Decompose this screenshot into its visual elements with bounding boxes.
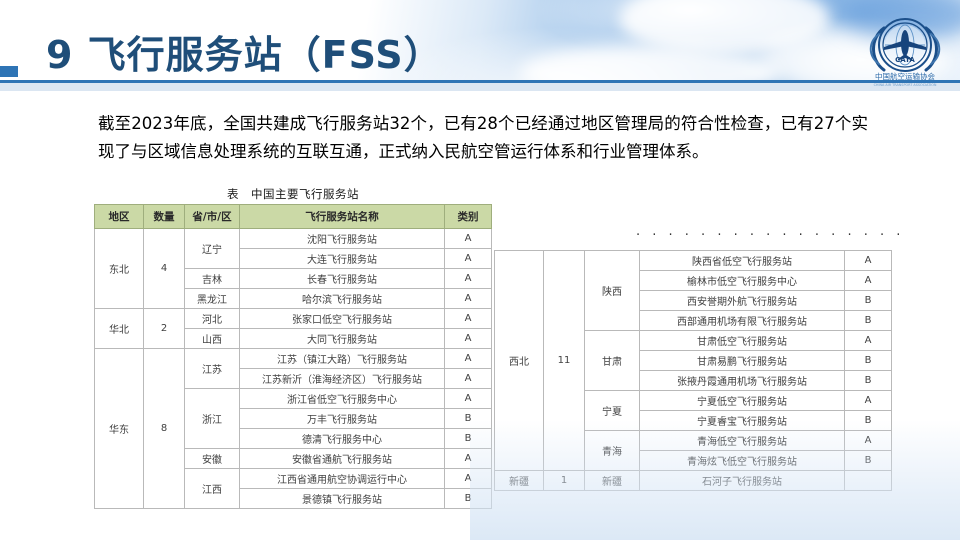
col-header-count: 数量	[144, 205, 185, 229]
table-body: 东北4辽宁沈阳飞行服务站A大连飞行服务站A吉林长春飞行服务站A黑龙江哈尔滨飞行服…	[95, 229, 492, 509]
cell-type: B	[445, 489, 492, 509]
fss-table-right: 西北11陕西陕西省低空飞行服务站A榆林市低空飞行服务中心A西安誉期外航飞行服务站…	[494, 250, 892, 491]
table-header-row: 地区 数量 省/市/区 飞行服务站名称 类别	[95, 205, 492, 229]
cell-province: 河北	[185, 309, 240, 329]
table-row: 华东8江苏江苏（镇江大路）飞行服务站A	[95, 349, 492, 369]
cell-province: 辽宁	[185, 229, 240, 269]
cell-type: A	[845, 431, 892, 451]
cell-type: A	[445, 369, 492, 389]
cell-type: B	[845, 351, 892, 371]
cell-type: A	[845, 251, 892, 271]
fss-table-left: 地区 数量 省/市/区 飞行服务站名称 类别 东北4辽宁沈阳飞行服务站A大连飞行…	[94, 204, 492, 509]
cell-station-name: 江苏（镇江大路）飞行服务站	[240, 349, 445, 369]
col-header-station-name: 飞行服务站名称	[240, 205, 445, 229]
cell-station-name: 青海炫飞低空飞行服务站	[640, 451, 845, 471]
cell-type: B	[845, 451, 892, 471]
cell-province: 吉林	[185, 269, 240, 289]
cell-type: A	[445, 389, 492, 409]
cell-type: A	[445, 309, 492, 329]
cell-station-name: 陕西省低空飞行服务站	[640, 251, 845, 271]
table-row: 华北2河北张家口低空飞行服务站A	[95, 309, 492, 329]
cell-station-name: 宁夏低空飞行服务站	[640, 391, 845, 411]
cell-province: 江苏	[185, 349, 240, 389]
cell-type: B	[845, 311, 892, 331]
cell-station-name: 哈尔滨飞行服务站	[240, 289, 445, 309]
cell-type: A	[445, 249, 492, 269]
header-accent-tab	[0, 66, 18, 77]
cell-station-name: 江苏新沂（淮海经济区）飞行服务站	[240, 369, 445, 389]
cell-type: A	[845, 391, 892, 411]
right-table-container: 西北11陕西陕西省低空飞行服务站A榆林市低空飞行服务中心A西安誉期外航飞行服务站…	[494, 250, 892, 491]
cell-station-name: 宁夏睿宝飞行服务站	[640, 411, 845, 431]
cell-station-name: 沈阳飞行服务站	[240, 229, 445, 249]
cell-station-name: 甘肃低空飞行服务站	[640, 331, 845, 351]
cell-station-name: 万丰飞行服务站	[240, 409, 445, 429]
cell-station-name: 张家口低空飞行服务站	[240, 309, 445, 329]
table-body: 西北11陕西陕西省低空飞行服务站A榆林市低空飞行服务中心A西安誉期外航飞行服务站…	[495, 251, 892, 491]
dots-separator: · · · · · · · · · · · · · · · · ·	[636, 228, 904, 243]
cell-count: 1	[544, 471, 585, 491]
cell-station-name: 张掖丹霞通用机场飞行服务站	[640, 371, 845, 391]
table-row: 东北4辽宁沈阳飞行服务站A	[95, 229, 492, 249]
table-row: 西北11陕西陕西省低空飞行服务站A	[495, 251, 892, 271]
cell-province: 山西	[185, 329, 240, 349]
cata-logo: CATA 中国航空运输协会 CHINA AIR TRANSPORT ASSOCI…	[862, 12, 948, 88]
cell-type: B	[445, 409, 492, 429]
cell-station-name: 德清飞行服务中心	[240, 429, 445, 449]
cell-count: 2	[144, 309, 185, 349]
cell-province: 浙江	[185, 389, 240, 449]
col-header-region: 地区	[95, 205, 144, 229]
cell-type: A	[445, 449, 492, 469]
cell-region: 新疆	[495, 471, 544, 491]
cell-type: A	[445, 349, 492, 369]
logo-org-sub-text: CHINA AIR TRANSPORT ASSOCIATION	[874, 83, 937, 87]
cell-station-name: 大连飞行服务站	[240, 249, 445, 269]
cell-region: 华北	[95, 309, 144, 349]
cell-station-name: 榆林市低空飞行服务中心	[640, 271, 845, 291]
cell-station-name: 大同飞行服务站	[240, 329, 445, 349]
cell-type	[845, 471, 892, 491]
header-divider-rule-light	[0, 83, 960, 91]
page-title: 9 飞行服务站（FSS）	[46, 24, 443, 79]
cell-station-name: 景德镇飞行服务站	[240, 489, 445, 509]
cell-station-name: 西部通用机场有限飞行服务站	[640, 311, 845, 331]
cell-type: A	[445, 289, 492, 309]
cell-station-name: 西安誉期外航飞行服务站	[640, 291, 845, 311]
cell-type: A	[445, 269, 492, 289]
cell-station-name: 浙江省低空飞行服务中心	[240, 389, 445, 409]
cell-province: 黑龙江	[185, 289, 240, 309]
cell-type: A	[845, 331, 892, 351]
cell-region: 东北	[95, 229, 144, 309]
cell-province: 宁夏	[585, 391, 640, 431]
cell-type: B	[845, 371, 892, 391]
cell-count: 4	[144, 229, 185, 309]
col-header-province: 省/市/区	[185, 205, 240, 229]
cell-type: B	[845, 411, 892, 431]
cell-province: 新疆	[585, 471, 640, 491]
cell-province: 江西	[185, 469, 240, 509]
cell-station-name: 石河子飞行服务站	[640, 471, 845, 491]
cell-count: 11	[544, 251, 585, 471]
cell-count: 8	[144, 349, 185, 509]
col-header-type: 类别	[445, 205, 492, 229]
body-paragraph: 截至2023年底，全国共建成飞行服务站32个，已有28个已经通过地区管理局的符合…	[98, 110, 868, 166]
cell-station-name: 安徽省通航飞行服务站	[240, 449, 445, 469]
cell-station-name: 江西省通用航空协调运行中心	[240, 469, 445, 489]
cell-province: 甘肃	[585, 331, 640, 391]
cell-region: 华东	[95, 349, 144, 509]
cell-station-name: 甘肃易鹏飞行服务站	[640, 351, 845, 371]
cell-province: 陕西	[585, 251, 640, 331]
table-caption: 表 中国主要飞行服务站	[94, 186, 492, 202]
cell-region: 西北	[495, 251, 544, 471]
logo-acronym-text: CATA	[895, 56, 915, 64]
cell-type: A	[445, 229, 492, 249]
cell-type: B	[445, 429, 492, 449]
left-table-container: 表 中国主要飞行服务站 地区 数量 省/市/区 飞行服务站名称 类别 东北4辽宁…	[94, 186, 492, 509]
logo-org-text: 中国航空运输协会	[875, 71, 935, 81]
cell-type: A	[445, 329, 492, 349]
cell-type: A	[845, 271, 892, 291]
cell-station-name: 长春飞行服务站	[240, 269, 445, 289]
cell-province: 青海	[585, 431, 640, 471]
table-row: 新疆1新疆石河子飞行服务站	[495, 471, 892, 491]
cell-station-name: 青海低空飞行服务站	[640, 431, 845, 451]
cell-type: B	[845, 291, 892, 311]
cell-type: A	[445, 469, 492, 489]
cell-province: 安徽	[185, 449, 240, 469]
